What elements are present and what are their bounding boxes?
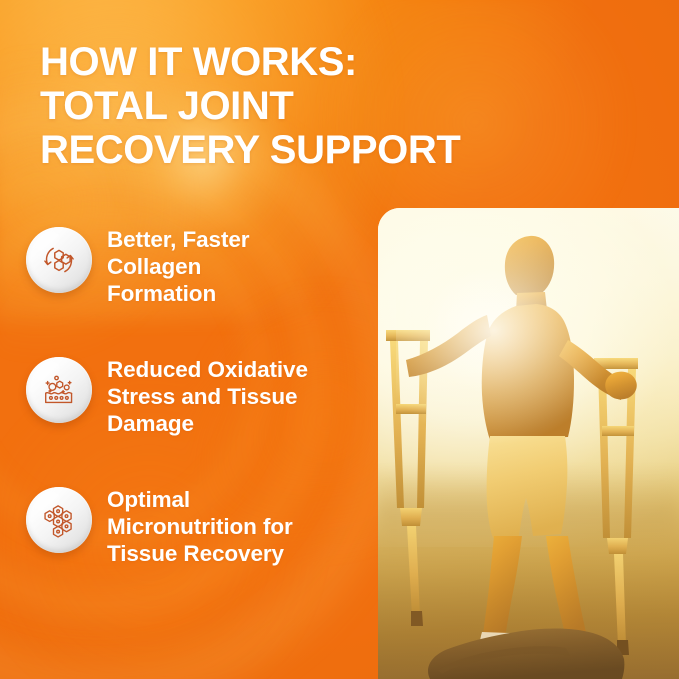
- headline-line-1: HOW IT WORKS:: [40, 40, 560, 84]
- feature-label-micronutrition: Optimal Micronutrition for Tissue Recove…: [107, 484, 293, 567]
- feature-1-line-3: Formation: [107, 280, 249, 307]
- feature-1-line-1: Better, Faster: [107, 226, 249, 253]
- feature-2-line-2: Stress and Tissue: [107, 383, 308, 410]
- collagen-hexagon-cycle-icon: [26, 227, 92, 293]
- headline-line-3: RECOVERY SUPPORT: [40, 128, 560, 172]
- feature-1-line-2: Collagen: [107, 253, 249, 280]
- feature-list: Better, Faster Collagen Formation: [26, 224, 378, 567]
- feature-3-line-3: Tissue Recovery: [107, 540, 293, 567]
- hero-photo: [378, 208, 679, 679]
- feature-item-micronutrition: Optimal Micronutrition for Tissue Recove…: [26, 484, 378, 567]
- feature-label-collagen: Better, Faster Collagen Formation: [107, 224, 249, 307]
- photo-figure-silhouette: [378, 208, 679, 679]
- page-title: HOW IT WORKS: TOTAL JOINT RECOVERY SUPPO…: [40, 40, 560, 172]
- feature-3-line-1: Optimal: [107, 486, 293, 513]
- oxidative-stress-tissue-icon: [26, 357, 92, 423]
- feature-label-oxidative-stress: Reduced Oxidative Stress and Tissue Dama…: [107, 354, 308, 437]
- honeycomb-micronutrition-icon: [26, 487, 92, 553]
- infographic-canvas: HOW IT WORKS: TOTAL JOINT RECOVERY SUPPO…: [0, 0, 679, 679]
- feature-item-collagen: Better, Faster Collagen Formation: [26, 224, 378, 307]
- feature-3-line-2: Micronutrition for: [107, 513, 293, 540]
- feature-2-line-3: Damage: [107, 410, 308, 437]
- headline-line-2: TOTAL JOINT: [40, 84, 560, 128]
- feature-2-line-1: Reduced Oxidative: [107, 356, 308, 383]
- feature-item-oxidative-stress: Reduced Oxidative Stress and Tissue Dama…: [26, 354, 378, 437]
